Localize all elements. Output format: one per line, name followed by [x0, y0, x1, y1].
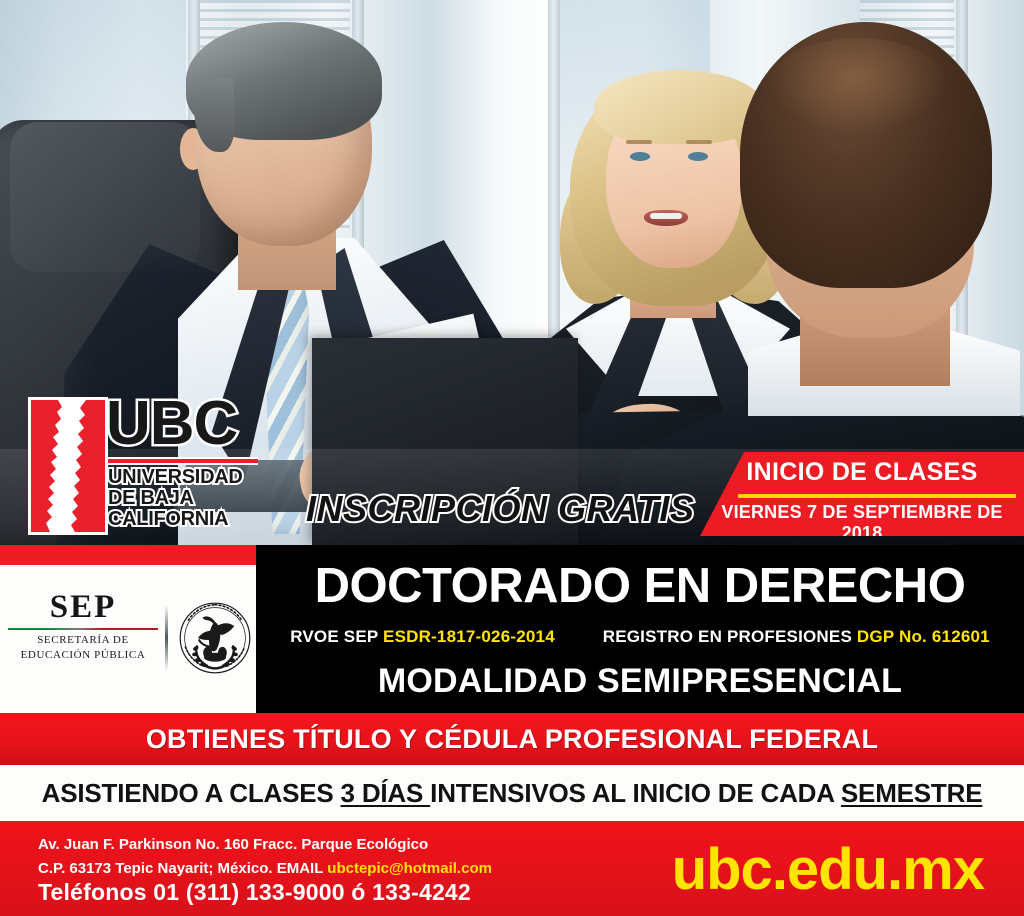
- address-line-2: C.P. 63173 Tepic Nayarit; México. EMAIL …: [38, 857, 492, 881]
- sep-vertical-divider: [165, 605, 168, 671]
- inicio-divider-rule: [738, 494, 1016, 498]
- sep-tricolor-rule: [8, 628, 158, 630]
- program-modality: MODALIDAD SEMIPRESENCIAL: [256, 662, 1024, 701]
- ubc-full-name: UNIVERSIDAD DE BAJA CALIFORNIA: [108, 467, 243, 531]
- address-block: Av. Juan F. Parkinson No. 160 Fracc. Par…: [38, 833, 492, 880]
- sep-name-line-1: SECRETARÍA DE: [8, 633, 158, 648]
- benefit-titulo-text: OBTIENES TÍTULO Y CÉDULA PROFESIONAL FED…: [146, 724, 878, 755]
- woman-hair-fringe: [594, 70, 764, 144]
- phone-numbers[interactable]: Teléfonos 01 (311) 133-9000 ó 133-4242: [38, 879, 471, 906]
- woman-eye-left: [630, 152, 650, 161]
- woman-mouth: [644, 210, 688, 226]
- asistencia-semestre: SEMESTRE: [841, 778, 982, 808]
- ubc-wordmark: UBC UNIVERSIDAD DE BAJA CALIFORNIA: [106, 397, 264, 535]
- interviewer-hair: [186, 22, 382, 140]
- woman-eye-right: [688, 152, 708, 161]
- website-url[interactable]: ubc.edu.mx: [672, 841, 984, 899]
- baja-california-map-icon: [28, 397, 108, 535]
- inicio-de-clases-banner: INICIO DE CLASES VIERNES 7 DE SEPTIEMBRE…: [700, 452, 1024, 536]
- contact-footer: Av. Juan F. Parkinson No. 160 Fracc. Par…: [0, 821, 1024, 916]
- sep-acronym: SEP: [8, 591, 158, 624]
- inscripcion-gratis-label: INSCRIPCIÓN GRATIS: [306, 488, 694, 530]
- accreditation-line: RVOE SEP ESDR-1817-026-2014 REGISTRO EN …: [256, 627, 1024, 647]
- sep-full-name: SECRETARÍA DE EDUCACIÓN PÚBLICA: [8, 633, 158, 663]
- ubc-name-line-3: CALIFORNIA: [108, 509, 243, 530]
- rvoe-value: ESDR-1817-026-2014: [383, 627, 555, 646]
- asistencia-part-2: INTENSIVOS AL INICIO DE CADA: [430, 778, 841, 808]
- registro-label: REGISTRO EN PROFESIONES: [603, 627, 852, 646]
- program-title: DOCTORADO EN DERECHO: [256, 558, 1024, 614]
- address-line-1: Av. Juan F. Parkinson No. 160 Fracc. Par…: [38, 833, 492, 857]
- woman-eyebrow-left: [626, 140, 652, 144]
- inicio-de-clases-title: INICIO DE CLASES: [700, 458, 1024, 487]
- benefit-band-titulo: OBTIENES TÍTULO Y CÉDULA PROFESIONAL FED…: [0, 713, 1024, 765]
- asistencia-dias: 3 DÍAS: [341, 778, 431, 808]
- email-link[interactable]: ubctepic@hotmail.com: [327, 860, 492, 877]
- ubc-name-line-1: UNIVERSIDAD: [108, 467, 243, 488]
- woman-eyebrow-right: [686, 140, 712, 144]
- office-chair-headrest: [10, 122, 200, 272]
- registro-value: DGP No. 612601: [857, 627, 990, 646]
- asistencia-part-1: ASISTIENDO A CLASES: [42, 778, 341, 808]
- address-line-2-text: C.P. 63173 Tepic Nayarit; México. EMAIL: [38, 860, 327, 877]
- benefit-band-asistencia: ASISTIENDO A CLASES 3 DÍAS INTENSIVOS AL…: [0, 765, 1024, 821]
- rvoe-label: RVOE SEP: [290, 627, 378, 646]
- red-strip-left: [0, 545, 256, 565]
- benefit-asistencia-text: ASISTIENDO A CLASES 3 DÍAS INTENSIVOS AL…: [42, 778, 983, 809]
- ubc-red-bar: [108, 457, 258, 465]
- sep-logo-panel: SEP SECRETARÍA DE EDUCACIÓN PÚBLICA: [0, 565, 256, 713]
- sep-name-line-2: EDUCACIÓN PÚBLICA: [8, 648, 158, 663]
- mexican-national-seal-icon: [178, 601, 252, 675]
- candidate-hair: [740, 22, 992, 288]
- poster: UBC UNIVERSIDAD DE BAJA CALIFORNIA INSCR…: [0, 0, 1024, 916]
- ubc-logo: UBC UNIVERSIDAD DE BAJA CALIFORNIA: [28, 397, 264, 535]
- sep-logo: SEP SECRETARÍA DE EDUCACIÓN PÚBLICA: [8, 591, 158, 663]
- ubc-acronym: UBC: [106, 393, 237, 455]
- ubc-name-line-2: DE BAJA: [108, 488, 243, 509]
